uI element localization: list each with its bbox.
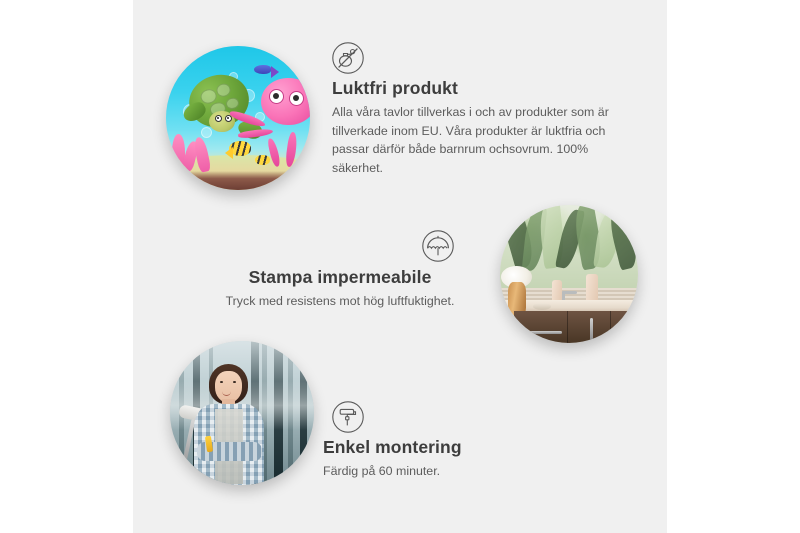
octopus-eye	[289, 91, 304, 106]
umbrella-icon	[420, 228, 456, 264]
small-blue-fish	[254, 65, 271, 74]
toiletry-bottle	[586, 274, 598, 303]
no-scent-perfume-bottle-icon	[330, 40, 366, 76]
cabinet-seam	[610, 311, 611, 343]
wooden-vanity-cabinet	[514, 311, 638, 343]
feature-text-waterproof-print: Stampa impermeabile Tryck med resistens …	[190, 267, 490, 311]
drawer-handle	[529, 331, 562, 334]
infographic-root: Luktfri produkt Alla våra tavlor tillver…	[0, 0, 800, 533]
feature-text-easy-assembly: Enkel montering Färdig på 60 minuter.	[323, 437, 603, 481]
feature-description: Tryck med resistens mot hög luftfuktighe…	[190, 292, 490, 311]
content-panel: Luktfri produkt Alla våra tavlor tillver…	[133, 0, 667, 533]
underwater-scene	[166, 46, 310, 190]
soap-dish	[533, 303, 551, 310]
sea-bottom-band	[166, 171, 310, 190]
faucet-spout	[562, 291, 577, 294]
feature-text-odour-free: Luktfri produkt Alla våra tavlor tillver…	[332, 78, 622, 178]
paint-roller-icon	[330, 399, 366, 435]
feature-title: Enkel montering	[323, 437, 603, 457]
feature-description: Alla våra tavlor tillverkas i och av pro…	[332, 103, 622, 177]
shell-plate	[216, 82, 233, 97]
product-image-underwater-mural[interactable]	[166, 46, 310, 190]
feature-description: Färdig på 60 minuter.	[323, 462, 603, 481]
feature-title: Luktfri produkt	[332, 78, 622, 98]
product-image-woman-with-roller[interactable]	[170, 341, 314, 485]
toiletry-bottle	[552, 280, 562, 302]
cabinet-seam	[567, 311, 568, 343]
door-handle	[590, 318, 593, 340]
bathroom-scene	[500, 205, 638, 343]
forest-wallpaper-scene	[170, 341, 314, 485]
small-blue-fish-tail	[271, 66, 279, 78]
shell-plate	[225, 96, 240, 110]
striped-yellow-fish-tail	[225, 147, 233, 159]
bubble-icon	[201, 127, 212, 138]
turtle-eye	[215, 115, 222, 122]
feature-title: Stampa impermeabile	[190, 267, 490, 287]
product-image-bathroom-wallpaper[interactable]	[500, 205, 638, 343]
